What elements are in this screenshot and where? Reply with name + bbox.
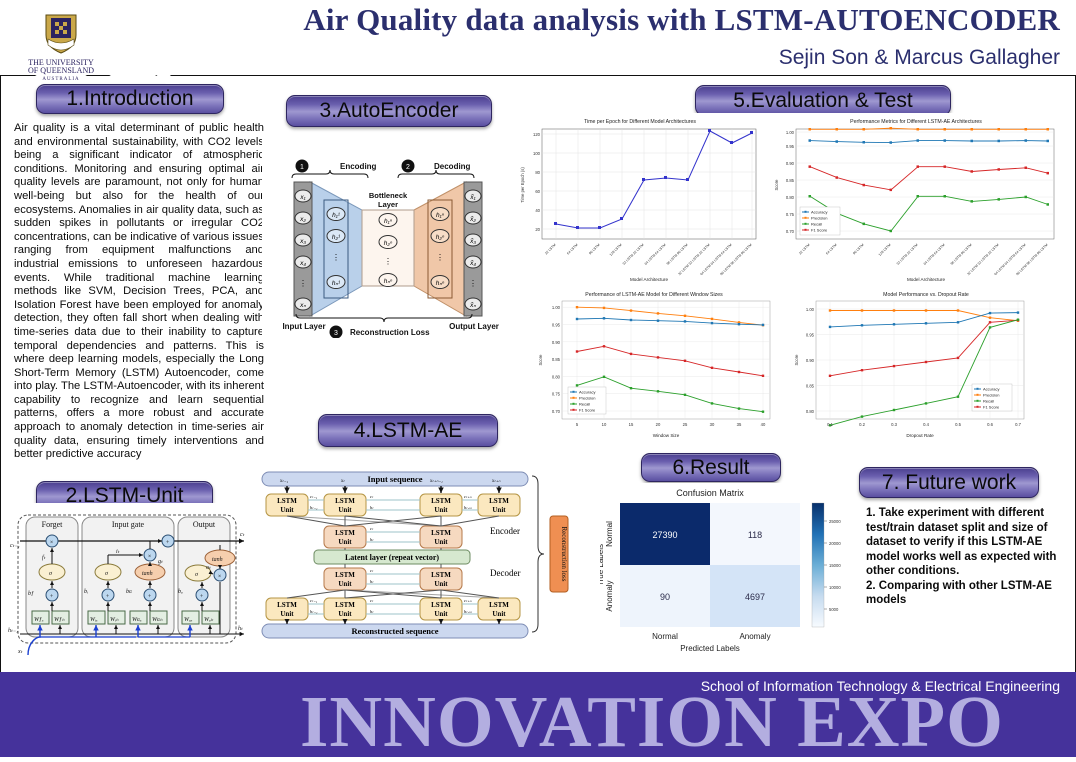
svg-text:0.85: 0.85 xyxy=(786,178,795,183)
svg-text:0.3: 0.3 xyxy=(891,422,897,427)
svg-text:hₜ: hₜ xyxy=(370,609,374,614)
svg-text:x̂₄: x̂₄ xyxy=(469,260,476,267)
w-ix-label: Wᵢₓ xyxy=(90,617,98,623)
svg-text:0.90: 0.90 xyxy=(806,358,815,363)
chart-window-sizes-svg: Performance of LSTM-AE Model for Differe… xyxy=(514,286,782,451)
svg-text:Unit: Unit xyxy=(338,506,352,514)
svg-text:x₄: x₄ xyxy=(299,260,306,267)
svg-text:40: 40 xyxy=(535,208,540,213)
svg-text:0.95: 0.95 xyxy=(806,333,815,338)
svg-text:cₜ₊ₙ: cₜ₊ₙ xyxy=(464,494,472,499)
bottleneck-label-line1: Bottleneck xyxy=(369,191,408,200)
chart-dropout-rate-svg: Model Performance vs. Dropout Rate 0.800… xyxy=(786,286,1066,451)
cm-xtick-anomaly: Anomaly xyxy=(739,632,770,641)
svg-text:×: × xyxy=(148,554,152,560)
tanh-output: tanh xyxy=(212,557,223,563)
reconstruction-loss-bar-label: Reconstruction loss xyxy=(560,526,568,581)
svg-text:40: 40 xyxy=(761,422,766,427)
svg-text:Unit: Unit xyxy=(434,580,448,588)
svg-text:cₜ: cₜ xyxy=(370,526,374,531)
svg-text:x̂ₙ: x̂ₙ xyxy=(469,302,476,309)
svg-text:x̂₁: x̂₁ xyxy=(469,194,475,201)
input-layer-label: Input Layer xyxy=(282,322,325,331)
x-t-token: xₜ xyxy=(340,479,345,484)
introduction-body: Air quality is a vital determinant of pu… xyxy=(14,122,264,462)
svg-text:LSTM: LSTM xyxy=(431,497,451,505)
svg-text:F1 Score: F1 Score xyxy=(579,408,596,413)
svg-text:h₁ⁿ: h₁ⁿ xyxy=(436,212,445,219)
svg-text:hₜ: hₜ xyxy=(370,579,374,584)
decoding-label: Decoding xyxy=(434,162,471,171)
svg-text:Precision: Precision xyxy=(579,396,595,401)
sum-forget: + xyxy=(50,594,54,600)
svg-text:1.00: 1.00 xyxy=(786,130,795,135)
chart3-title: Performance of LSTM-AE Model for Differe… xyxy=(585,292,723,298)
svg-text:h₂ⁿ: h₂ⁿ xyxy=(436,234,445,241)
chart4-title: Model Performance vs. Dropout Rate xyxy=(883,292,969,298)
x-t-minus-1-token: xₜ₋₁ xyxy=(279,479,288,484)
svg-text:Unit: Unit xyxy=(338,610,352,618)
svg-text:0.85: 0.85 xyxy=(552,357,561,362)
svg-text:LSTM: LSTM xyxy=(431,571,451,579)
cm-ytick-anomaly: Anomaly xyxy=(605,580,614,611)
page-title: Air Quality data analysis with LSTM-AUTO… xyxy=(303,2,1060,38)
c-prev-label: cₜ₋₁ xyxy=(10,543,20,549)
svg-text:0.70: 0.70 xyxy=(786,229,795,234)
chart-time-per-epoch-svg: Time per Epoch for Different Model Archi… xyxy=(514,113,766,285)
lstm-unit-diagram: Forget Input gate Output cₜ₋₁ cₜ hₜ₋₁ hₜ… xyxy=(8,503,256,661)
svg-text:0.80: 0.80 xyxy=(552,374,561,379)
section-heading-evaluation: 5.Evaluation & Test xyxy=(695,85,951,116)
svg-text:Precision: Precision xyxy=(811,216,827,221)
decoder-lstm-row4: LSTM Unit LSTM Unit LSTM Unit LSTM Unit xyxy=(266,598,520,620)
svg-text:35: 35 xyxy=(737,422,742,427)
svg-text:x₂: x₂ xyxy=(299,216,306,223)
svg-text:+: + xyxy=(200,594,204,600)
svg-text:0.95: 0.95 xyxy=(786,144,795,149)
svg-text:15000: 15000 xyxy=(829,563,841,568)
f-t-label: fₜ xyxy=(42,554,46,561)
author-line: Sejin Son & Marcus Gallagher xyxy=(779,46,1060,70)
svg-text:F1 Score: F1 Score xyxy=(983,405,1000,410)
decoder-label: Decoder xyxy=(490,568,520,578)
svg-text:LSTM: LSTM xyxy=(335,571,355,579)
svg-text:0.70: 0.70 xyxy=(552,409,561,414)
output-layer-label: Output Layer xyxy=(449,322,499,331)
mult-forget: × xyxy=(50,540,54,546)
cm-xlabel: Predicted Labels xyxy=(680,644,740,653)
uq-line-3: AUSTRALIA xyxy=(42,77,79,82)
encoding-label: Encoding xyxy=(340,162,377,171)
svg-text:×: × xyxy=(218,574,222,580)
future-work-item-1: 1. Take experiment with different test/t… xyxy=(866,506,1066,579)
svg-text:30: 30 xyxy=(710,422,715,427)
svg-text:0.75: 0.75 xyxy=(552,392,561,397)
chart2-xlabel: Model Architecture xyxy=(907,277,945,282)
svg-text:25000: 25000 xyxy=(829,519,841,524)
svg-text:x̂₃: x̂₃ xyxy=(469,238,476,245)
x-t-label: xₜ xyxy=(17,649,23,655)
poster-root: Air Quality data analysis with LSTM-AUTO… xyxy=(0,0,1076,757)
x-t-plus-n-token: xₜ₊ₙ xyxy=(491,479,501,484)
b-f-label: bƒ xyxy=(28,591,34,597)
svg-text:1.00: 1.00 xyxy=(806,307,815,312)
svg-text:+: + xyxy=(106,594,110,600)
innovation-expo-title: INNOVATION EXPO xyxy=(300,686,1004,757)
chart4-ylabel: Score xyxy=(794,354,799,366)
svg-text:Unit: Unit xyxy=(434,538,448,546)
svg-text:hₙⁿ: hₙⁿ xyxy=(384,278,393,285)
section-heading-lstm-ae: 4.LSTM-AE xyxy=(318,414,498,447)
svg-text:Unit: Unit xyxy=(280,610,294,618)
svg-text:LSTM: LSTM xyxy=(335,497,355,505)
poster-footer: School of Information Technology & Elect… xyxy=(0,672,1076,757)
svg-text:x₁: x₁ xyxy=(299,194,305,201)
cm-value-tn: 27390 xyxy=(652,530,677,540)
svg-text:0.75: 0.75 xyxy=(786,212,795,217)
x-t-plus-n-1-token: xₜ₊ₙ₋₁ xyxy=(429,479,443,484)
svg-text:cₜ: cₜ xyxy=(370,598,374,603)
autoencoder-diagram: 1 Encoding 2 Decoding Bottleneck Layer I… xyxy=(262,138,514,338)
svg-text:Precision: Precision xyxy=(983,393,999,398)
confusion-matrix-title: Confusion Matrix xyxy=(676,488,744,498)
svg-text:Recall: Recall xyxy=(811,222,822,227)
svg-text:LSTM: LSTM xyxy=(277,497,297,505)
chart3-xlabel: Window Size xyxy=(653,433,680,438)
svg-text:+: + xyxy=(148,594,152,600)
bottleneck-label-line2: Layer xyxy=(378,200,398,209)
svg-text:Unit: Unit xyxy=(492,610,506,618)
svg-text:h₁¹: h₁¹ xyxy=(332,212,341,219)
svg-text:⋮: ⋮ xyxy=(299,279,307,288)
chart2-ylabel: Score xyxy=(774,179,779,191)
chart-performance-metrics-svg: Performance Metrics for Different LSTM-A… xyxy=(766,113,1066,285)
svg-text:120: 120 xyxy=(533,132,541,137)
chart-dropout-rate: Model Performance vs. Dropout Rate 0.800… xyxy=(786,286,1066,451)
chart4-xlabel: Dropout Rate xyxy=(906,433,934,438)
w-gx-label: Wɢₓ xyxy=(132,617,142,623)
svg-text:Unit: Unit xyxy=(338,580,352,588)
confusion-matrix-svg: Confusion Matrix 27390 118 90 4697 Norma… xyxy=(600,483,850,658)
chart2-title: Performance Metrics for Different LSTM-A… xyxy=(850,119,982,125)
svg-text:h₁ⁿ: h₁ⁿ xyxy=(384,218,393,225)
c-t-label: cₜ xyxy=(240,532,245,538)
reconstruction-loss-label: Reconstruction Loss xyxy=(350,328,430,337)
svg-text:0.2: 0.2 xyxy=(859,422,865,427)
section-heading-future-work: 7. Future work xyxy=(859,467,1039,498)
svg-text:cₜ₋₁: cₜ₋₁ xyxy=(310,598,318,603)
svg-text:⋮: ⋮ xyxy=(469,279,477,288)
svg-text:hₜ₋₁: hₜ₋₁ xyxy=(310,505,318,510)
w-ih-label: Wᵢₕ xyxy=(110,617,119,623)
svg-text:0.90: 0.90 xyxy=(552,340,561,345)
svg-text:Accuracy: Accuracy xyxy=(811,210,827,215)
svg-text:hₜ: hₜ xyxy=(370,537,374,542)
b-i-label: bᵢ xyxy=(84,589,88,595)
svg-text:LSTM: LSTM xyxy=(335,601,355,609)
chart1-xlabel: Model Architecture xyxy=(630,277,668,282)
svg-text:⋮: ⋮ xyxy=(436,253,444,262)
svg-text:xₙ: xₙ xyxy=(299,302,306,309)
chart1-ylabel: Time per Epoch (s) xyxy=(520,167,525,203)
svg-text:cₜ: cₜ xyxy=(370,494,374,499)
svg-text:20000: 20000 xyxy=(829,541,841,546)
svg-text:Unit: Unit xyxy=(338,538,352,546)
svg-text:15: 15 xyxy=(629,422,634,427)
encoder-label: Encoder xyxy=(490,526,520,536)
step-1-badge: 1 xyxy=(300,164,304,171)
decoder-lstm-row3: LSTM Unit LSTM Unit xyxy=(324,568,462,590)
cm-xtick-normal: Normal xyxy=(652,632,678,641)
svg-text:20: 20 xyxy=(656,422,661,427)
cm-ytick-normal: Normal xyxy=(605,521,614,547)
svg-text:hₙ¹: hₙ¹ xyxy=(332,280,341,287)
chart3-legend: Accuracy Precision Recall F1 Score xyxy=(568,387,606,414)
svg-text:10: 10 xyxy=(602,422,607,427)
svg-text:⋮: ⋮ xyxy=(332,253,340,262)
svg-text:h₂¹: h₂¹ xyxy=(332,234,341,241)
uq-q-mark xyxy=(88,2,193,84)
output-gate-label: Output xyxy=(193,520,216,529)
svg-text:LSTM: LSTM xyxy=(431,601,451,609)
svg-text:0.1: 0.1 xyxy=(827,422,833,427)
cm-ylabel: True Labels xyxy=(600,544,605,586)
chart2-legend: Accuracy Precision Recall F1 Score xyxy=(800,207,840,235)
svg-text:Recall: Recall xyxy=(579,402,590,407)
input-gate-label: Input gate xyxy=(112,520,145,529)
step-3-badge: 3 xyxy=(334,330,338,337)
svg-text:Unit: Unit xyxy=(492,506,506,514)
cm-value-fn: 90 xyxy=(660,592,670,602)
svg-text:80: 80 xyxy=(535,170,540,175)
svg-text:Unit: Unit xyxy=(280,506,294,514)
svg-text:0.90: 0.90 xyxy=(786,161,795,166)
svg-text:x̂₂: x̂₂ xyxy=(469,216,476,223)
svg-text:Accuracy: Accuracy xyxy=(983,387,999,392)
svg-text:10000: 10000 xyxy=(829,585,841,590)
svg-text:F1 Score: F1 Score xyxy=(811,228,828,233)
svg-text:LSTM: LSTM xyxy=(431,529,451,537)
svg-text:0.80: 0.80 xyxy=(806,409,815,414)
latent-layer-label: Latent layer (repeat vector) xyxy=(345,553,439,562)
svg-text:x₃: x₃ xyxy=(299,238,306,245)
input-sequence-label: Input sequence xyxy=(367,474,422,484)
i-t-label: iₜ xyxy=(116,549,120,555)
confusion-matrix-figure: Confusion Matrix 27390 118 90 4697 Norma… xyxy=(600,483,850,658)
cm-value-fp: 118 xyxy=(748,530,762,540)
lstm-unit-svg: Forget Input gate Output cₜ₋₁ cₜ hₜ₋₁ hₜ… xyxy=(8,503,256,661)
chart4-legend: Accuracy Precision Recall F1 Score xyxy=(972,384,1012,411)
svg-text:cₜ₊ₙ: cₜ₊ₙ xyxy=(464,598,472,603)
encoder-lstm-row1: LSTM Unit LSTM Unit LSTM Unit LSTM Unit xyxy=(266,494,520,516)
forget-gate-label: Forget xyxy=(42,520,64,529)
lstm-ae-svg: Input sequence Reconstructed sequence La… xyxy=(258,468,598,643)
svg-text:5000: 5000 xyxy=(829,607,839,612)
svg-text:0.5: 0.5 xyxy=(955,422,961,427)
g-t-label: gₜ xyxy=(158,559,163,565)
svg-text:hₙⁿ: hₙⁿ xyxy=(436,280,445,287)
svg-text:0.95: 0.95 xyxy=(552,323,561,328)
uq-q-svg xyxy=(88,2,193,84)
chart3-ylabel: Score xyxy=(538,354,543,366)
svg-text:20: 20 xyxy=(535,227,540,232)
svg-text:LSTM: LSTM xyxy=(489,497,509,505)
encoder-lstm-row2: LSTM Unit LSTM Unit xyxy=(324,526,462,548)
w-oh-label: Wₒₕ xyxy=(204,617,214,623)
svg-text:0.7: 0.7 xyxy=(1015,422,1021,427)
autoencoder-svg: 1 Encoding 2 Decoding Bottleneck Layer I… xyxy=(262,138,514,338)
svg-text:0.4: 0.4 xyxy=(923,422,929,427)
svg-text:1.00: 1.00 xyxy=(552,305,561,310)
chart1-title: Time per Epoch for Different Model Archi… xyxy=(584,119,696,125)
svg-text:60: 60 xyxy=(535,189,540,194)
h-prev-label: hₜ₋₁ xyxy=(8,628,18,634)
tanh-input: tanh xyxy=(142,571,153,577)
chart-time-per-epoch: Time per Epoch for Different Model Archi… xyxy=(514,113,766,285)
svg-text:Unit: Unit xyxy=(434,610,448,618)
svg-text:0.80: 0.80 xyxy=(786,195,795,200)
uq-line-2: OF QUEENSLAND xyxy=(28,66,94,75)
svg-text:0.85: 0.85 xyxy=(806,384,815,389)
reconstructed-sequence-label: Reconstructed sequence xyxy=(351,626,438,636)
svg-text:+: + xyxy=(166,540,170,546)
svg-text:h₂ⁿ: h₂ⁿ xyxy=(384,240,393,247)
cm-value-tp: 4697 xyxy=(745,592,765,602)
w-fx-label: Wƒₓ xyxy=(34,617,44,623)
section-heading-autoencoder: 3.AutoEncoder xyxy=(286,95,492,127)
svg-text:LSTM: LSTM xyxy=(277,601,297,609)
b-o-label: bₒ xyxy=(178,589,183,595)
svg-text:100: 100 xyxy=(533,151,541,156)
svg-text:hₜ₊ₙ: hₜ₊ₙ xyxy=(464,609,472,614)
section-heading-introduction: 1.Introduction xyxy=(36,84,224,114)
svg-text:hₜ: hₜ xyxy=(370,505,374,510)
h-t-label: hₜ xyxy=(238,626,243,632)
w-ox-label: Wₒₓ xyxy=(184,617,193,623)
svg-text:0.6: 0.6 xyxy=(987,422,993,427)
svg-text:⋮: ⋮ xyxy=(384,257,392,266)
svg-text:Accuracy: Accuracy xyxy=(579,390,595,395)
future-work-body: 1. Take experiment with different test/t… xyxy=(866,506,1066,608)
lstm-ae-diagram: Input sequence Reconstructed sequence La… xyxy=(258,468,598,643)
w-gh-label: Wɢₕ xyxy=(152,617,163,623)
step-2-badge: 2 xyxy=(406,164,410,171)
svg-text:LSTM: LSTM xyxy=(489,601,509,609)
section-heading-result: 6.Result xyxy=(641,453,781,482)
svg-text:Unit: Unit xyxy=(434,506,448,514)
svg-text:Recall: Recall xyxy=(983,399,994,404)
svg-text:hₜ₊ₙ: hₜ₊ₙ xyxy=(464,505,472,510)
svg-text:LSTM: LSTM xyxy=(335,529,355,537)
b-g-label: bɢ xyxy=(126,589,132,595)
cm-colorbar xyxy=(812,503,824,627)
chart-performance-metrics: Performance Metrics for Different LSTM-A… xyxy=(766,113,1066,285)
svg-text:cₜ₋₁: cₜ₋₁ xyxy=(310,494,318,499)
w-fh-label: Wƒₕ xyxy=(54,617,65,623)
chart-window-sizes: Performance of LSTM-AE Model for Differe… xyxy=(514,286,782,451)
svg-text:25: 25 xyxy=(683,422,688,427)
svg-text:hₜ₋₁: hₜ₋₁ xyxy=(310,609,318,614)
svg-text:cₜ: cₜ xyxy=(370,568,374,573)
o-t-label: oₜ xyxy=(206,565,211,571)
future-work-item-2: 2. Comparing with other LSTM-AE models xyxy=(866,579,1066,608)
